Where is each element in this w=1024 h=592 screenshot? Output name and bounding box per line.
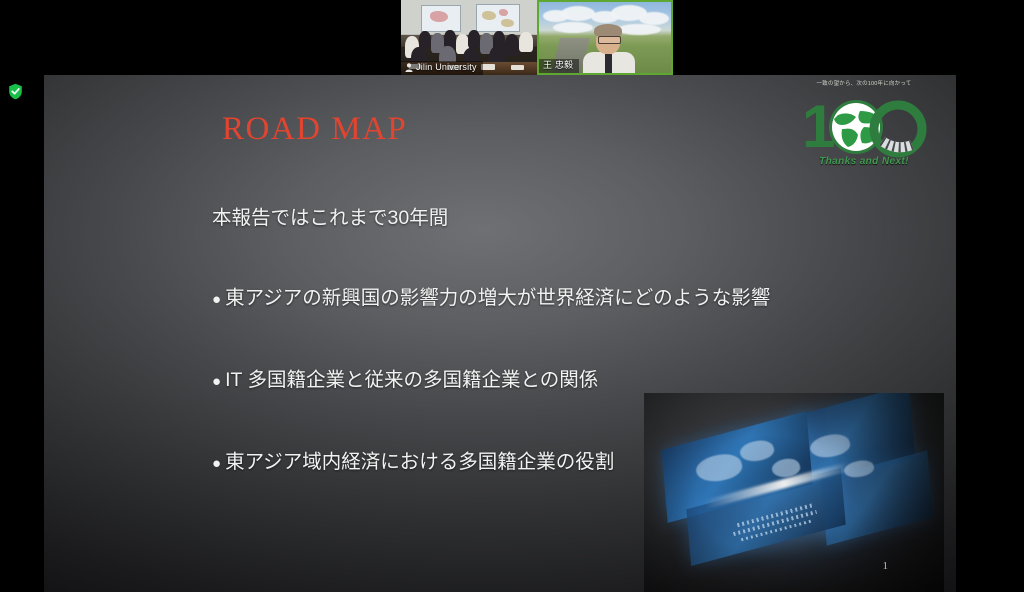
shield-check-icon[interactable] — [8, 83, 23, 100]
bullet-text: IT 多国籍企業と従来の多国籍企業との関係 — [225, 367, 598, 393]
logo-tagline: 一致の望から、次の100年に向かって — [794, 79, 934, 87]
presentation-slide: 一致の望から、次の100年に向かって 1 Thanks and Next! RO… — [44, 75, 956, 592]
logo-thanks-text: Thanks and Next! — [794, 156, 934, 167]
bullet-marker-icon: ● — [212, 451, 221, 477]
participant-filmstrip: Jilin University 王 忠毅 — [401, 0, 673, 75]
tile-label-text: 王 忠毅 — [543, 60, 573, 71]
lead-line: 本報告ではこれまで30年間 — [212, 205, 912, 231]
video-tile-speaker[interactable]: 王 忠毅 — [537, 0, 673, 75]
slide-page-number: 1 — [883, 560, 889, 572]
person-icon — [405, 63, 413, 72]
bullet-item-2: ● IT 多国籍企業と従来の多国籍企業との関係 — [212, 367, 912, 395]
bullet-marker-icon: ● — [212, 287, 221, 313]
bullet-text: 東アジア域内経済における多国籍企業の役割 — [225, 449, 614, 475]
bullet-item-1: ● 東アジアの新興国の影響力の増大が世界経済にどのような影響 — [212, 285, 912, 313]
tile-label-text: Jilin University — [416, 62, 477, 73]
anniversary-logo: 一致の望から、次の100年に向かって 1 Thanks and Next! — [794, 77, 934, 173]
wall-map-right — [476, 4, 520, 32]
screen-share-view: Jilin University 王 忠毅 — [0, 0, 1024, 592]
glasses-icon — [598, 36, 621, 44]
tile-label: Jilin University — [401, 61, 483, 75]
bullet-item-3: ● 東アジア域内経済における多国籍企業の役割 — [212, 449, 912, 477]
page-title: ROAD MAP — [222, 111, 407, 148]
video-tile-jilin-university[interactable]: Jilin University — [401, 0, 537, 75]
speaker-tie — [605, 54, 612, 75]
bullet-marker-icon: ● — [212, 369, 221, 395]
bullet-text: 東アジアの新興国の影響力の増大が世界経済にどのような影響 — [225, 285, 770, 311]
tile-label: 王 忠毅 — [539, 59, 579, 73]
slide-body: 本報告ではこれまで30年間 ● 東アジアの新興国の影響力の増大が世界経済にどのよ… — [212, 205, 912, 531]
wall-map-left — [421, 5, 461, 32]
